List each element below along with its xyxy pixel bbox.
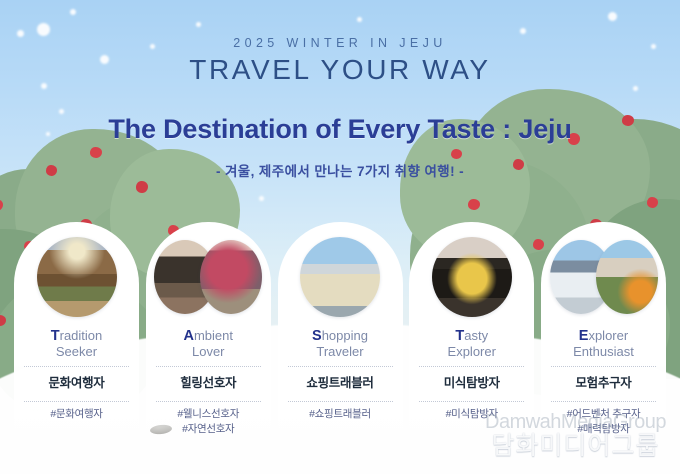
page-title: The Destination of Every Taste : Jeju <box>0 114 680 145</box>
watermark-english: DamwahMediaGroup <box>485 412 666 432</box>
card-title-rest: mbient <box>194 328 233 343</box>
camellia-tree-photo <box>200 240 262 314</box>
persona-card-tradition-seeker[interactable]: Tradition Seeker 문화여행자 #문화여행자 <box>14 222 139 452</box>
card-tag: #웰니스선호자 <box>146 407 271 422</box>
card-title-line2: Explorer <box>448 344 496 359</box>
card-title-kr: 모험추구자 <box>541 367 666 395</box>
card-photos <box>146 234 271 320</box>
card-title-en: Shopping Traveler <box>278 328 403 360</box>
snow-dot <box>70 9 76 15</box>
card-initial: T <box>455 328 464 344</box>
card-tag: #자연선호자 <box>146 422 271 437</box>
poster-header: 2025 WINTER IN JEJU TRAVEL YOUR WAY The … <box>0 36 680 180</box>
card-title-en: Explorer Enthusiast <box>541 328 666 360</box>
card-title-line2: Traveler <box>316 344 363 359</box>
card-initial: T <box>51 328 60 344</box>
card-title-en: Tasty Explorer <box>409 328 534 360</box>
card-title-line2: Lover <box>192 344 225 359</box>
card-photos <box>14 234 139 320</box>
card-title-rest: hopping <box>322 328 368 343</box>
card-title-kr: 미식탐방자 <box>409 367 534 395</box>
page-subtitle: - 겨울, 제주에서 만나는 7가지 취향 여행! - <box>0 160 680 180</box>
noodle-dish-photo <box>432 237 512 317</box>
card-title-kr: 힐링선호자 <box>146 367 271 395</box>
card-tag: #문화여행자 <box>14 407 139 422</box>
persona-card-shopping-traveler[interactable]: Shopping Traveler 쇼핑트래블러 #쇼핑트래블러 <box>278 222 403 452</box>
traditional-hanok-village-photo <box>37 237 117 317</box>
snow-dot <box>37 23 50 36</box>
card-title-en: Ambient Lover <box>146 328 271 360</box>
card-initial: A <box>183 328 193 344</box>
snow-dot <box>259 196 264 201</box>
card-title-rest: radition <box>60 328 103 343</box>
card-title-line2: Enthusiast <box>573 344 634 359</box>
card-initial: E <box>579 328 589 344</box>
card-tag: #쇼핑트래블러 <box>278 407 403 422</box>
snow-dot <box>608 12 617 21</box>
card-photos <box>278 234 403 320</box>
watermark-korean: 담화미디어그룹 <box>485 432 666 460</box>
persona-card-ambient-lover[interactable]: Ambient Lover 힐링선호자 #웰니스선호자 #자연선호자 <box>146 222 271 452</box>
card-tags: #쇼핑트래블러 <box>278 402 403 422</box>
card-title-line2: Seeker <box>56 344 97 359</box>
snow-dot <box>196 22 201 27</box>
card-photos <box>409 234 534 320</box>
card-tags: #웰니스선호자 #자연선호자 <box>146 402 271 437</box>
kicker-text: 2025 WINTER IN JEJU <box>0 36 680 50</box>
tangerine-picking-photo <box>596 240 658 314</box>
shopping-outlet-building-photo <box>300 237 380 317</box>
card-title-rest: asty <box>464 328 488 343</box>
card-title-rest: xplorer <box>588 328 628 343</box>
snow-dot <box>520 28 526 34</box>
card-photos <box>541 234 666 320</box>
snow-dot <box>357 17 362 22</box>
headline-text: TRAVEL YOUR WAY <box>0 54 680 86</box>
watermark: DamwahMediaGroup 담화미디어그룹 <box>485 412 666 460</box>
card-title-kr: 쇼핑트래블러 <box>278 367 403 395</box>
card-title-kr: 문화여행자 <box>14 367 139 395</box>
card-title-en: Tradition Seeker <box>14 328 139 360</box>
card-initial: S <box>312 328 322 344</box>
card-tags: #문화여행자 <box>14 402 139 422</box>
